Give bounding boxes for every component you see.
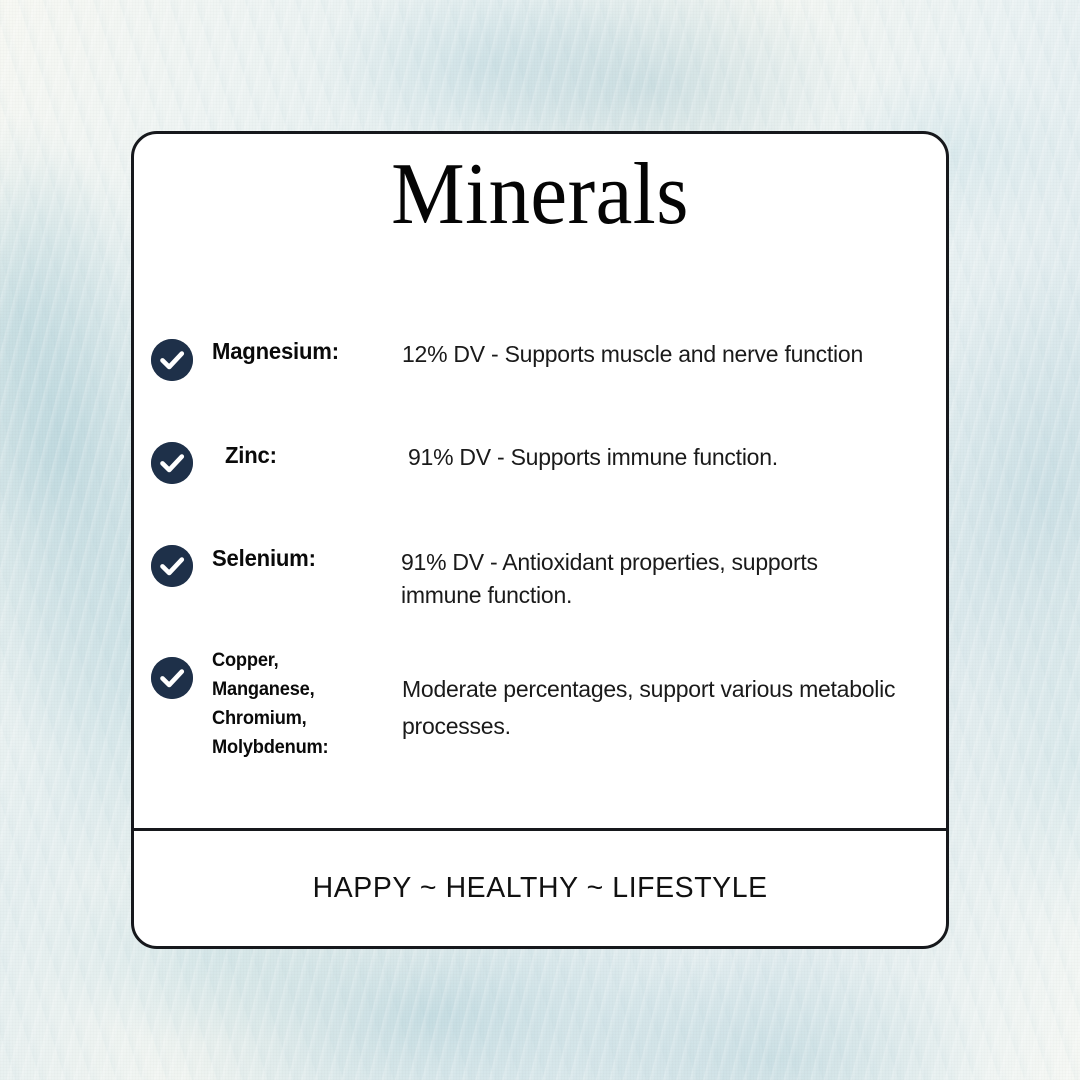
- minerals-list: Magnesium: 12% DV - Supports muscle and …: [134, 327, 946, 767]
- list-item: Copper,Manganese,Chromium,Molybdenum: Mo…: [134, 647, 946, 767]
- mineral-name-label: Magnesium:: [212, 337, 339, 367]
- footer-tagline: HAPPY ~ HEALTHY ~ LIFESTYLE: [312, 872, 767, 905]
- list-item: Selenium: 91% DV - Antioxidant propertie…: [134, 535, 946, 647]
- mineral-description: 12% DV - Supports muscle and nerve funct…: [402, 338, 932, 371]
- page-title: Minerals: [158, 146, 921, 245]
- mineral-description: 91% DV - Supports immune function.: [408, 441, 928, 474]
- mineral-description: 91% DV - Antioxidant properties, support…: [401, 546, 881, 611]
- mineral-description: Moderate percentages, support various me…: [402, 671, 902, 746]
- card-body: Minerals Magnesium: 12% DV - Supports mu…: [134, 134, 946, 828]
- minerals-card: Minerals Magnesium: 12% DV - Supports mu…: [131, 131, 949, 949]
- check-circle-icon: [151, 339, 193, 381]
- list-item: Zinc: 91% DV - Supports immune function.: [134, 430, 946, 535]
- list-item: Magnesium: 12% DV - Supports muscle and …: [134, 327, 946, 430]
- check-circle-icon: [151, 545, 193, 587]
- mineral-name-label: Selenium:: [212, 544, 316, 574]
- check-circle-icon: [151, 442, 193, 484]
- check-circle-icon: [151, 657, 193, 699]
- mineral-name-label: Copper,Manganese,Chromium,Molybdenum:: [212, 647, 328, 763]
- card-footer: HAPPY ~ HEALTHY ~ LIFESTYLE: [134, 828, 946, 946]
- mineral-name-label: Zinc:: [225, 441, 277, 471]
